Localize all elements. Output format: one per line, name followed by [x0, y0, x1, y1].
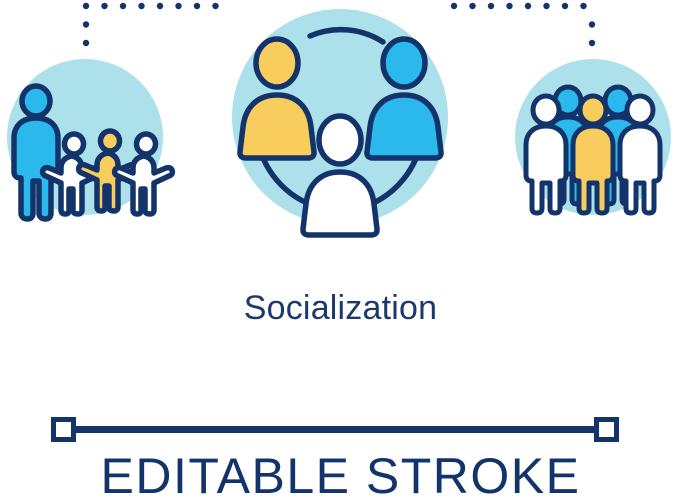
- bracket-dot: [175, 3, 181, 9]
- crowd-circle-icon: [515, 59, 671, 215]
- bracket-dot: [451, 3, 457, 9]
- bracket-dot: [101, 3, 107, 9]
- bracket-dot: [488, 3, 494, 9]
- bracket-dot: [83, 3, 89, 9]
- concept-illustration: [0, 0, 681, 500]
- bracket-dot: [157, 3, 163, 9]
- bracket-dot: [580, 3, 586, 9]
- bracket-dot: [138, 3, 144, 9]
- socialization-circle-icon: [232, 9, 448, 235]
- stroke-bar-left-handle[interactable]: [54, 420, 74, 440]
- page-title: Socialization: [0, 286, 681, 330]
- stroke-bar-right-handle[interactable]: [597, 420, 617, 440]
- bracket-dot: [469, 3, 475, 9]
- editable-stroke-label: EDITABLE STROKE: [0, 448, 681, 500]
- bracket-dot: [83, 40, 89, 46]
- bracket-dot: [83, 21, 89, 27]
- bracket-dot: [194, 3, 200, 9]
- bracket-dot: [212, 3, 218, 9]
- bracket-dot: [562, 3, 568, 9]
- bracket-dot: [506, 3, 512, 9]
- bracket-dot: [543, 3, 549, 9]
- bracket-dot: [589, 21, 595, 27]
- illustration-canvas: Socialization EDITABLE STROKE: [0, 0, 681, 500]
- bracket-dot: [589, 40, 595, 46]
- bracket-dot: [525, 3, 531, 9]
- editable-stroke-bar[interactable]: [54, 420, 617, 440]
- family-circle-icon: [7, 59, 172, 219]
- family-adult-figure: [14, 86, 58, 219]
- bracket-dot: [120, 3, 126, 9]
